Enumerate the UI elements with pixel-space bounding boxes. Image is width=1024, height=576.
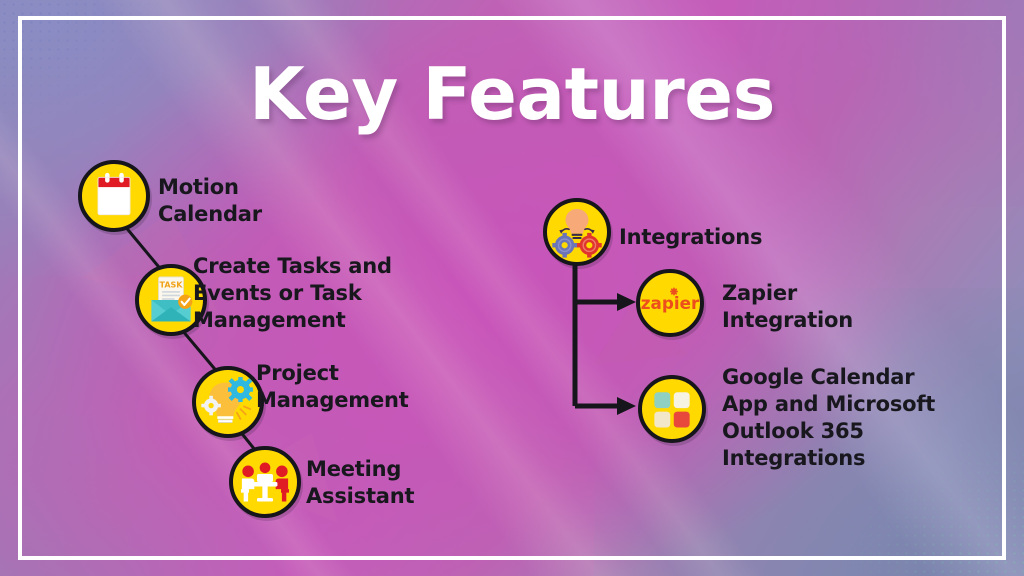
label-create-tasks: Create Tasks and Events or Task Manageme… <box>193 253 453 334</box>
calendar-icon <box>82 164 146 228</box>
node-project-management[interactable] <box>192 366 264 438</box>
slide-canvas: Key Features Motion Calendar TASK <box>0 0 1024 576</box>
lightbulb-gears-icon <box>196 370 260 434</box>
label-integrations: Integrations <box>619 224 849 251</box>
label-meeting-assistant: Meeting Assistant <box>306 456 526 510</box>
label-motion-calendar: Motion Calendar <box>158 174 348 228</box>
page-title: Key Features <box>0 52 1024 136</box>
node-google-outlook[interactable] <box>638 375 706 443</box>
zapier-icon: zapier <box>640 273 700 333</box>
app-grid-icon <box>642 379 702 439</box>
meeting-table-icon <box>233 450 297 514</box>
svg-text:TASK: TASK <box>160 281 184 290</box>
svg-text:zapier: zapier <box>641 293 700 313</box>
label-zapier: Zapier Integration <box>722 280 972 334</box>
integrations-bulb-gears-icon <box>547 202 607 262</box>
node-integrations[interactable] <box>543 198 611 266</box>
node-motion-calendar[interactable] <box>78 160 150 232</box>
label-google-outlook: Google Calendar App and Microsoft Outloo… <box>722 364 992 472</box>
node-meeting-assistant[interactable] <box>229 446 301 518</box>
node-zapier[interactable]: zapier <box>636 269 704 337</box>
label-project-management: Project Management <box>256 360 486 414</box>
